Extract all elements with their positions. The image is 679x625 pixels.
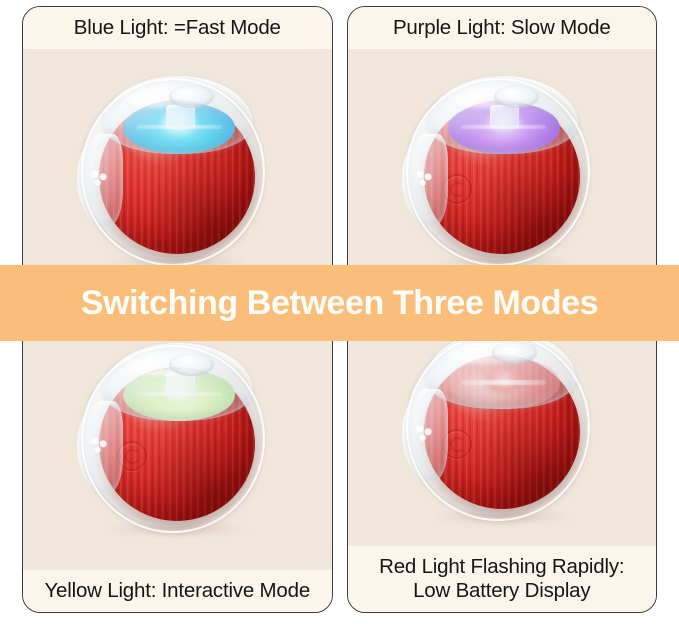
- product-photo-red: [348, 317, 657, 547]
- ball-toy-illustration-yellow: [77, 343, 277, 543]
- shell-rim: [81, 345, 265, 533]
- panel-label-purple: Purple Light: Slow Mode: [348, 7, 657, 49]
- product-feature-infographic: Blue Light: =Fast Mode: [0, 0, 679, 625]
- shell-rim: [81, 78, 265, 266]
- mode-switching-banner: Switching Between Three Modes: [0, 265, 679, 341]
- product-photo-yellow: [23, 317, 332, 571]
- shell-rim: [406, 333, 590, 521]
- ball-toy-illustration-blue: [77, 76, 277, 276]
- panel-purple-slow-mode: Purple Light: Slow Mode: [347, 6, 658, 304]
- panel-yellow-interactive-mode: Yellow Light: Interactive Mode: [22, 316, 333, 614]
- panel-label-blue: Blue Light: =Fast Mode: [23, 7, 332, 49]
- panel-label-red: Red Light Flashing Rapidly: Low Battery …: [348, 546, 657, 612]
- ball-toy-illustration-purple: [402, 76, 602, 276]
- ball-toy-illustration-red: [402, 331, 602, 531]
- panel-label-yellow: Yellow Light: Interactive Mode: [23, 570, 332, 612]
- panel-blue-fast-mode: Blue Light: =Fast Mode: [22, 6, 333, 304]
- shell-rim: [406, 78, 590, 266]
- banner-title: Switching Between Three Modes: [81, 286, 598, 320]
- panel-red-low-battery: Red Light Flashing Rapidly: Low Battery …: [347, 316, 658, 614]
